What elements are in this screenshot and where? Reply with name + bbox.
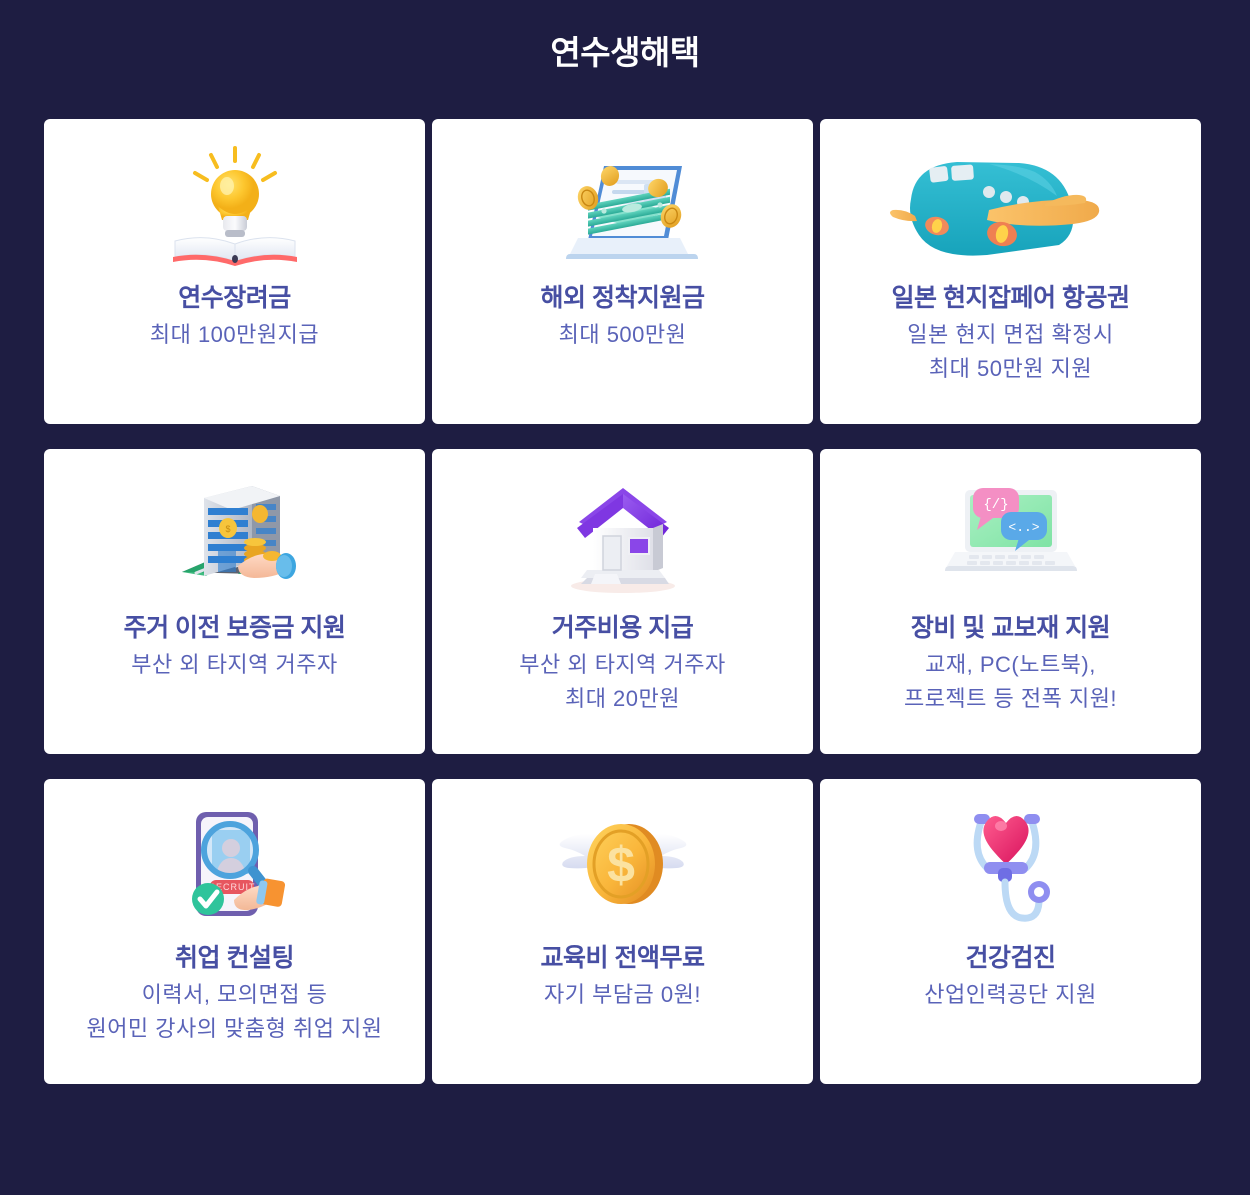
lightbulb-book-icon bbox=[44, 135, 425, 277]
desc-line: 프로젝트 등 전폭 지원! bbox=[904, 682, 1117, 716]
dollar-symbol: $ bbox=[607, 837, 635, 893]
card-description: 이력서, 모의면접 등 원어민 강사의 맞춤형 취업 지원 bbox=[86, 978, 382, 1046]
benefit-card-health-checkup[interactable]: 건강검진 산업인력공단 지원 bbox=[820, 779, 1201, 1084]
recruit-search-icon: RECRUIT bbox=[44, 795, 425, 937]
card-title: 장비 및 교보재 지원 bbox=[911, 613, 1110, 644]
card-title: 주거 이전 보증금 지원 bbox=[124, 613, 346, 644]
card-description: 일본 현지 면접 확정시 최대 50만원 지원 bbox=[907, 318, 1114, 386]
card-description: 교재, PC(노트북), 프로젝트 등 전폭 지원! bbox=[904, 648, 1117, 716]
card-description: 부산 외 타지역 거주자 bbox=[131, 648, 338, 682]
benefit-card-overseas-settlement[interactable]: 해외 정착지원금 최대 500만원 bbox=[432, 119, 813, 424]
desc-line: 이력서, 모의면접 등 bbox=[86, 978, 382, 1012]
svg-text:<..>: <..> bbox=[1008, 520, 1039, 535]
page-title: 연수생해택 bbox=[0, 0, 1250, 69]
card-description: 최대 100만원지급 bbox=[150, 318, 319, 352]
desc-line: 산업인력공단 지원 bbox=[924, 978, 1097, 1012]
desc-line: 부산 외 타지역 거주자 bbox=[131, 648, 338, 682]
benefit-card-housing-deposit[interactable]: $ 주거 이전 보증금 지원 부산 외 타지역 거주자 bbox=[44, 449, 425, 754]
desc-line: 최대 20만원 bbox=[519, 682, 726, 716]
svg-text:{/}: {/} bbox=[983, 497, 1008, 513]
card-description: 산업인력공단 지원 bbox=[924, 978, 1097, 1012]
benefits-page: 연수생해택 bbox=[0, 0, 1250, 1195]
card-description: 부산 외 타지역 거주자 최대 20만원 bbox=[519, 648, 726, 716]
benefits-grid: 연수장려금 최대 100만원지급 bbox=[44, 119, 1206, 1084]
winged-coin-icon: $ bbox=[432, 795, 813, 937]
building-coins-icon: $ bbox=[44, 465, 425, 607]
benefit-card-japan-jobfair-ticket[interactable]: 일본 현지잡페어 항공권 일본 현지 면접 확정시 최대 50만원 지원 bbox=[820, 119, 1201, 424]
svg-text:$: $ bbox=[225, 524, 230, 534]
card-title: 일본 현지잡페어 항공권 bbox=[892, 283, 1130, 314]
desc-line: 교재, PC(노트북), bbox=[904, 648, 1117, 682]
desc-line: 부산 외 타지역 거주자 bbox=[519, 648, 726, 682]
desc-line: 최대 500만원 bbox=[559, 318, 687, 352]
benefit-card-job-consulting[interactable]: RECRUIT 취업 컨설팅 이력서, 모의면접 등 원어민 강사의 맞춤형 취… bbox=[44, 779, 425, 1084]
card-title: 연수장려금 bbox=[178, 283, 291, 314]
airplane-icon bbox=[820, 135, 1201, 277]
card-title: 거주비용 지급 bbox=[552, 613, 693, 644]
desc-line: 최대 100만원지급 bbox=[150, 318, 319, 352]
card-title: 취업 컨설팅 bbox=[175, 943, 294, 974]
money-laptop-icon bbox=[432, 135, 813, 277]
stethoscope-heart-icon bbox=[820, 795, 1201, 937]
benefit-card-training-allowance[interactable]: 연수장려금 최대 100만원지급 bbox=[44, 119, 425, 424]
desc-line: 최대 50만원 지원 bbox=[907, 352, 1114, 386]
benefit-card-equipment-materials[interactable]: {/} <..> 장비 및 교보재 지원 교재, PC(노트북), 프로젝트 등… bbox=[820, 449, 1201, 754]
desc-line: 자기 부담금 0원! bbox=[544, 978, 701, 1012]
house-icon bbox=[432, 465, 813, 607]
card-description: 최대 500만원 bbox=[559, 318, 687, 352]
card-title: 해외 정착지원금 bbox=[541, 283, 705, 314]
laptop-code-icon: {/} <..> bbox=[820, 465, 1201, 607]
desc-line: 원어민 강사의 맞춤형 취업 지원 bbox=[86, 1012, 382, 1046]
desc-line: 일본 현지 면접 확정시 bbox=[907, 318, 1114, 352]
benefit-card-free-tuition[interactable]: $ 교육비 전액무료 자기 부담금 0원! bbox=[432, 779, 813, 1084]
card-title: 교육비 전액무료 bbox=[541, 943, 705, 974]
card-description: 자기 부담금 0원! bbox=[544, 978, 701, 1012]
benefit-card-living-cost[interactable]: 거주비용 지급 부산 외 타지역 거주자 최대 20만원 bbox=[432, 449, 813, 754]
card-title: 건강검진 bbox=[965, 943, 1055, 974]
